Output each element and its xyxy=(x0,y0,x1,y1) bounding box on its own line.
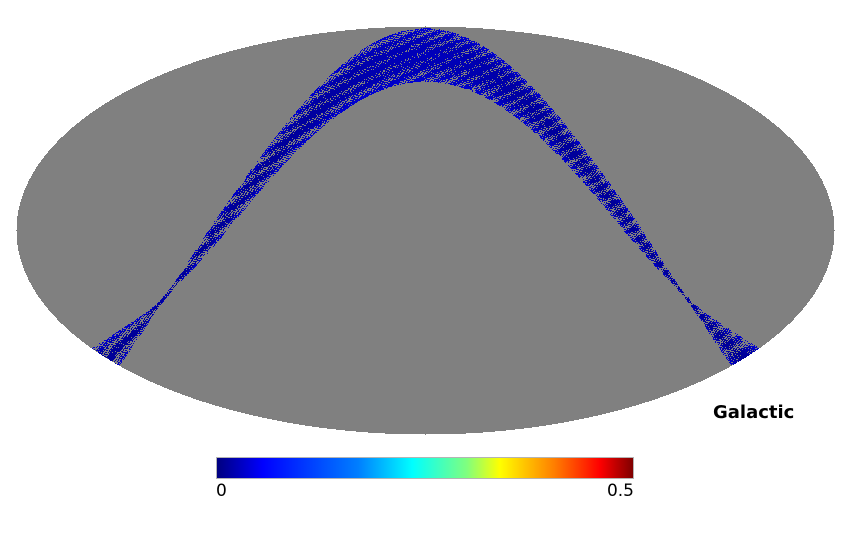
colorbar: 0 0.5 xyxy=(216,457,634,505)
colorbar-gradient xyxy=(216,457,634,479)
sky-map-figure: I Stokes Galactic 0 0.5 xyxy=(0,0,850,540)
colorbar-max-tick: 0.5 xyxy=(607,481,634,501)
colorbar-min-tick: 0 xyxy=(216,481,227,501)
coordinate-system-label: Galactic xyxy=(713,402,794,423)
